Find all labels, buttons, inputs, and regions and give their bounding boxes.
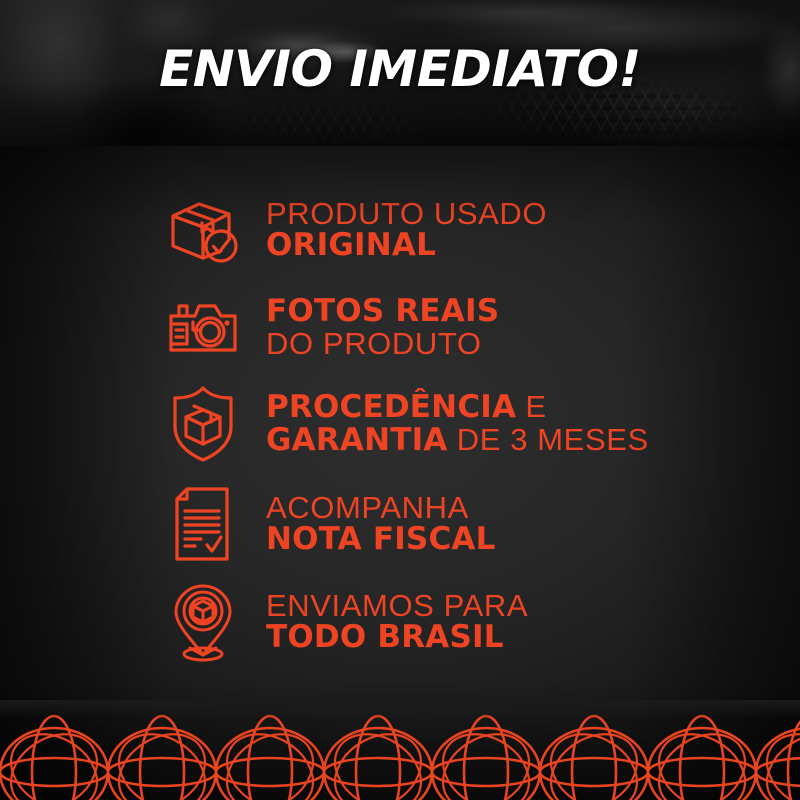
feature-line-1: ACOMPANHA (266, 492, 496, 524)
feature-line-2: ORIGINAL (266, 230, 547, 262)
feature-item-procedencia-garantia: PROCEDÊNCIA E GARANTIA DE 3 MESES (160, 382, 649, 466)
banner-header: ENVIO IMEDIATO! (0, 0, 800, 146)
feature-text: PRODUTO USADO ORIGINAL (266, 198, 547, 261)
feature-item-fotos-reais: FOTOS REAIS DO PRODUTO (160, 286, 499, 370)
page-title: ENVIO IMEDIATO! (0, 44, 800, 94)
promo-banner: ENVIO IMEDIATO! PRODUTO USADO ORIGINAL (0, 0, 800, 800)
feature-text: FOTOS REAIS DO PRODUTO (266, 296, 499, 359)
camera-icon (160, 286, 246, 370)
feature-line-2: GARANTIA DE 3 MESES (266, 424, 649, 457)
map-pin-box-icon (160, 580, 246, 664)
feature-line-2: DO PRODUTO (266, 328, 499, 360)
shield-box-icon (160, 382, 246, 466)
feature-line-1-bold: PROCEDÊNCIA (266, 389, 516, 425)
feature-line-2: TODO BRASIL (266, 622, 528, 654)
feature-line-2-thin: DE 3 MESES (448, 422, 649, 457)
feature-item-todo-brasil: ENVIAMOS PARA TODO BRASIL (160, 580, 528, 664)
invoice-document-icon (160, 482, 246, 566)
floral-lattice-border (0, 700, 800, 800)
feature-line-2-bold: GARANTIA (266, 422, 448, 458)
feature-line-1: FOTOS REAIS (266, 296, 499, 328)
feature-item-produto-original: PRODUTO USADO ORIGINAL (160, 188, 547, 272)
feature-line-1: PRODUTO USADO (266, 198, 547, 230)
feature-line-2: NOTA FISCAL (266, 524, 496, 556)
feature-text: ACOMPANHA NOTA FISCAL (266, 492, 496, 555)
feature-text: PROCEDÊNCIA E GARANTIA DE 3 MESES (266, 391, 649, 456)
feature-text: ENVIAMOS PARA TODO BRASIL (266, 590, 528, 653)
feature-line-1: ENVIAMOS PARA (266, 590, 528, 622)
feature-line-1-thin: E (516, 389, 547, 424)
feature-line-1: PROCEDÊNCIA E (266, 391, 649, 424)
feature-item-nota-fiscal: ACOMPANHA NOTA FISCAL (160, 482, 496, 566)
box-check-icon (160, 188, 246, 272)
